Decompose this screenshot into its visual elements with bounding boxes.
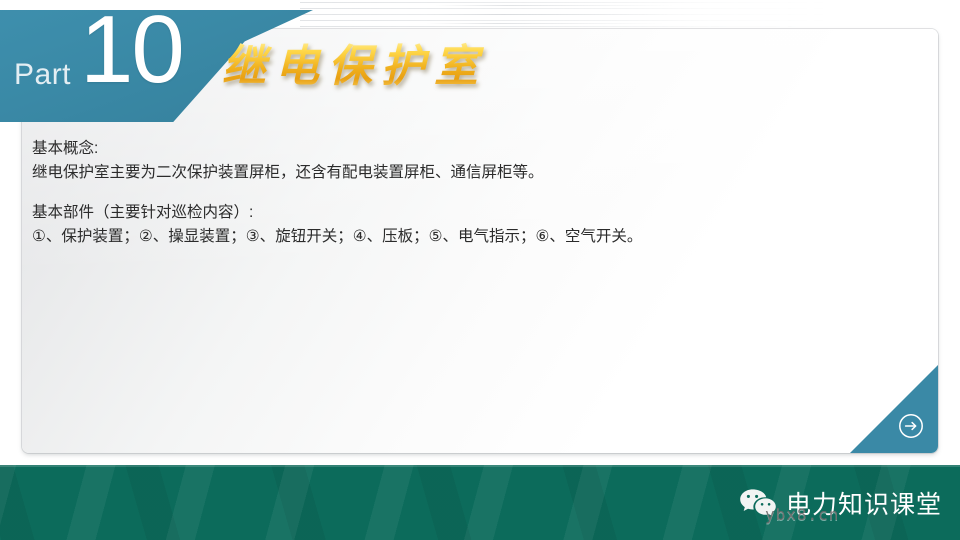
content-paragraph-1: 继电保护室主要为二次保护装置屏柜，还含有配电装置屏柜、通信屏柜等。 [32, 161, 902, 185]
footer-brand: 电力知识课堂 [739, 485, 942, 521]
wechat-icon [739, 488, 777, 518]
footer-bar: 电力知识课堂 [0, 465, 960, 540]
content-spacer [32, 184, 902, 201]
slide-title: 继电保护室 [222, 38, 487, 96]
brand-name: 电力知识课堂 [786, 485, 942, 521]
content-heading-1: 基本概念: [32, 137, 902, 161]
arrow-right-circle-icon[interactable] [898, 413, 924, 439]
footer-top-divider [0, 465, 960, 467]
content-heading-2: 基本部件（主要针对巡检内容）: [32, 201, 902, 225]
corner-accent-triangle [850, 365, 938, 453]
part-label: Part [14, 58, 71, 92]
part-number: 10 [80, 2, 183, 98]
content-paragraph-2: ①、保护装置；②、操显装置；③、旋钮开关；④、压板；⑤、电气指示；⑥、空气开关。 [32, 225, 902, 249]
content-body: 基本概念: 继电保护室主要为二次保护装置屏柜，还含有配电装置屏柜、通信屏柜等。 … [32, 137, 902, 248]
top-line-texture-secondary [423, 2, 677, 28]
slide-canvas: 基本概念: 继电保护室主要为二次保护装置屏柜，还含有配电装置屏柜、通信屏柜等。 … [0, 0, 960, 540]
